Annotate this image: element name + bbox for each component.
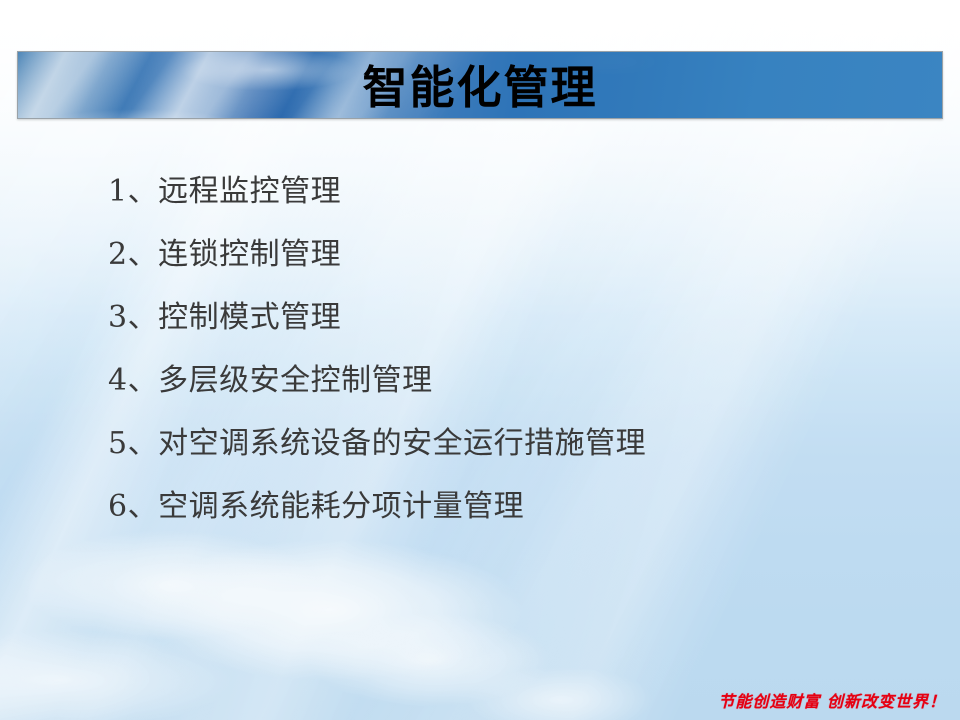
list-item: 3、控制模式管理 [108,286,928,349]
bullet-list: 1、远程监控管理 2、连锁控制管理 3、控制模式管理 4、多层级安全控制管理 5… [108,160,928,538]
list-item: 4、多层级安全控制管理 [108,349,928,412]
footer-slogan: 节能创造财富 创新改变世界！ [718,688,946,712]
list-item: 2、连锁控制管理 [108,223,928,286]
list-item: 1、远程监控管理 [108,160,928,223]
page-title: 智能化管理 [18,52,942,118]
list-item: 6、空调系统能耗分项计量管理 [108,475,928,538]
slide-canvas: 智能化管理 1、远程监控管理 2、连锁控制管理 3、控制模式管理 4、多层级安全… [0,0,960,720]
title-banner: 智能化管理 [17,51,943,119]
list-item: 5、对空调系统设备的安全运行措施管理 [108,412,928,475]
